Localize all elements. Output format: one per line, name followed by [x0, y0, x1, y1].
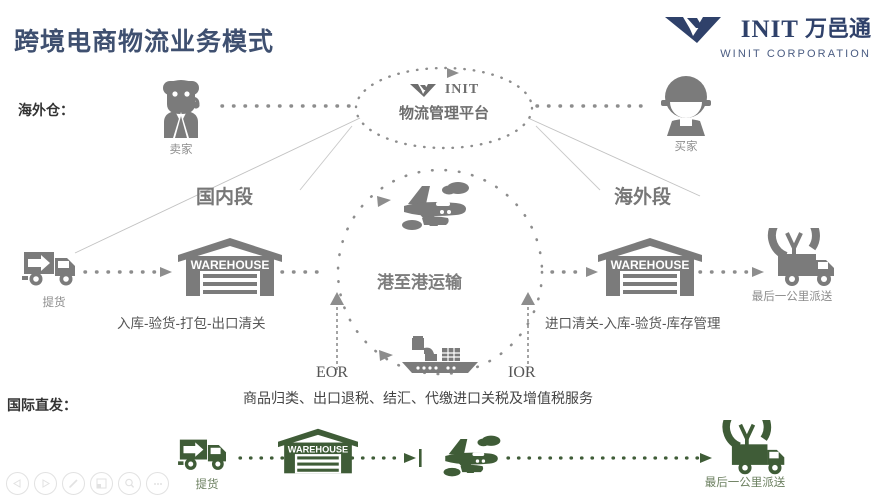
slide-toolbar[interactable] [6, 472, 169, 495]
warehouse-label: WAREHOUSE [288, 445, 348, 455]
slide-canvas: 跨境电商物流业务模式 INIT 万邑通 WINIT CORPORATION [0, 0, 889, 500]
pickup-truck-icon [178, 436, 236, 474]
pen-icon[interactable] [62, 472, 85, 495]
seller-caption: 卖家 [150, 141, 212, 157]
delivery-truck-icon [700, 420, 790, 478]
platform-arrow-icon [447, 68, 459, 78]
import-process-text: 进口清关-入库-验货-库存管理 [545, 312, 721, 332]
green-bar-marker [419, 449, 422, 467]
warehouse-icon: WAREHOUSE [278, 428, 358, 474]
green-warehouse-node: WAREHOUSE [278, 428, 358, 474]
arrow-pickup-warehouse-icon [160, 267, 172, 277]
warehouse-icon: WAREHOUSE [598, 238, 702, 296]
buyer-caption: 买家 [653, 138, 719, 154]
last-mile-caption: 最后一公里派送 [744, 288, 840, 304]
platform-logo-text: INIT [445, 82, 479, 98]
stage-domestic-label: 国内段 [196, 182, 253, 209]
airplane-icon [386, 178, 478, 234]
previous-icon[interactable] [6, 472, 29, 495]
green-air-node [430, 432, 508, 480]
search-icon[interactable] [118, 472, 141, 495]
eor-label: EOR [316, 364, 348, 382]
green-pickup-node: 提货 [178, 436, 236, 492]
warehouse-icon: WAREHOUSE [178, 238, 282, 296]
customs-services-text: 商品归类、出口退税、结汇、代缴进口关税及增值税服务 [243, 388, 593, 408]
stage-overseas-label: 海外段 [614, 182, 671, 209]
green-pickup-caption: 提货 [178, 476, 236, 492]
direct-shipping-section-label: 国际直发： [7, 395, 77, 415]
ior-label: IOR [508, 364, 536, 382]
delivery-truck-icon [744, 228, 840, 290]
export-process-text: 入库-验货-打包-出口清关 [117, 312, 266, 332]
destination-warehouse-node: WAREHOUSE [598, 238, 702, 296]
buyer-person-icon [653, 74, 719, 136]
sea-transport-node [392, 336, 484, 374]
eor-arrow-icon [330, 292, 344, 305]
more-icon[interactable] [146, 472, 169, 495]
port-to-port-label: 港至港运输 [377, 268, 462, 293]
ior-arrow-icon [521, 292, 535, 305]
platform-winit-w-icon [409, 83, 441, 98]
arrow-green-2-icon [404, 453, 416, 463]
warehouse-label: WAREHOUSE [191, 258, 270, 272]
pickup-node: 提货 [22, 248, 86, 310]
green-last-mile-node: 最后一公里派送 [700, 420, 790, 490]
origin-warehouse-node: WAREHOUSE [178, 238, 282, 296]
seller-person-icon [150, 76, 212, 138]
arrow-circle-warehouse2-icon [586, 267, 598, 277]
last-mile-node: 最后一公里派送 [744, 228, 840, 304]
platform-name: 物流管理平台 [356, 102, 532, 123]
pickup-truck-icon [22, 248, 86, 290]
line-platform-down-left [300, 126, 352, 190]
airplane-icon [430, 432, 508, 480]
logistics-platform-node: INIT 物流管理平台 [356, 82, 532, 123]
overseas-warehouse-section-label: 海外仓： [18, 100, 74, 120]
warehouse-label: WAREHOUSE [611, 258, 690, 272]
cargo-ship-icon [392, 336, 484, 374]
grid-icon[interactable] [90, 472, 113, 495]
green-last-mile-caption: 最后一公里派送 [700, 474, 790, 490]
buyer-node: 买家 [653, 74, 719, 154]
seller-node: 卖家 [150, 76, 212, 157]
next-icon[interactable] [34, 472, 57, 495]
air-transport-node [386, 178, 478, 234]
line-platform-down-right [536, 126, 600, 190]
pickup-caption: 提货 [22, 294, 86, 310]
